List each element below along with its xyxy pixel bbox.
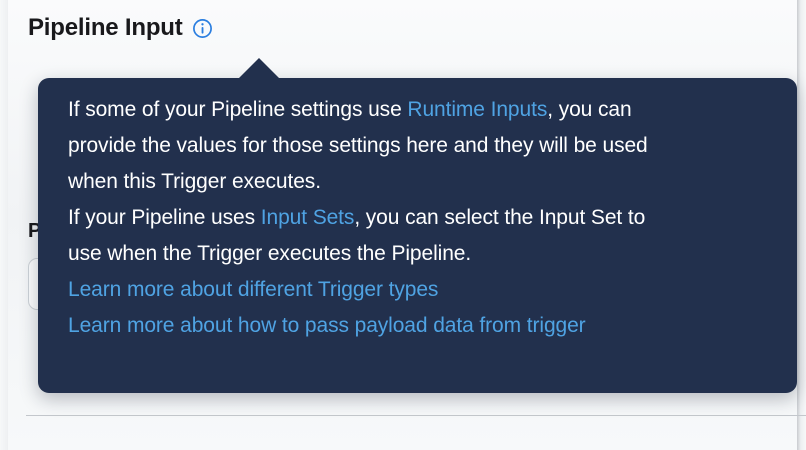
page-left-edge	[0, 0, 8, 450]
tooltip-p1-text2: , you can	[547, 98, 631, 121]
page-right-scrollbar-edge[interactable]	[797, 0, 806, 450]
tooltip-p2-text1: If your Pipeline uses	[68, 206, 261, 229]
runtime-inputs-link[interactable]: Runtime Inputs	[407, 98, 547, 121]
tooltip-arrow-icon	[238, 58, 280, 79]
tooltip-content: If some of your Pipeline settings use Ru…	[68, 92, 781, 344]
tooltip-p1-text1: If some of your Pipeline settings use	[68, 98, 407, 121]
page-title-label: Pipeline Input	[28, 13, 183, 43]
learn-more-trigger-types-link[interactable]: Learn more about different Trigger types	[68, 272, 438, 308]
tooltip-paragraph1-line3: when this Trigger executes.	[68, 164, 781, 200]
tooltip-p2-text2: , you can select the Input Set to	[354, 206, 645, 229]
tooltip-paragraph1-line2: provide the values for those settings he…	[68, 128, 781, 164]
screen: Pipeline Input P If some of your Pipelin…	[0, 0, 806, 450]
pipeline-input-tooltip: If some of your Pipeline settings use Ru…	[38, 78, 797, 393]
learn-more-payload-data-link[interactable]: Learn more about how to pass payload dat…	[68, 308, 586, 344]
section-divider	[26, 415, 806, 416]
tooltip-paragraph2-line2: use when the Trigger executes the Pipeli…	[68, 236, 781, 272]
input-sets-link[interactable]: Input Sets	[261, 206, 355, 229]
tooltip-paragraph2-line1: If your Pipeline uses Input Sets, you ca…	[68, 200, 781, 236]
info-circle-icon[interactable]	[192, 18, 213, 39]
tooltip-paragraph1-line1: If some of your Pipeline settings use Ru…	[68, 92, 781, 128]
page-title: Pipeline Input	[28, 12, 213, 44]
